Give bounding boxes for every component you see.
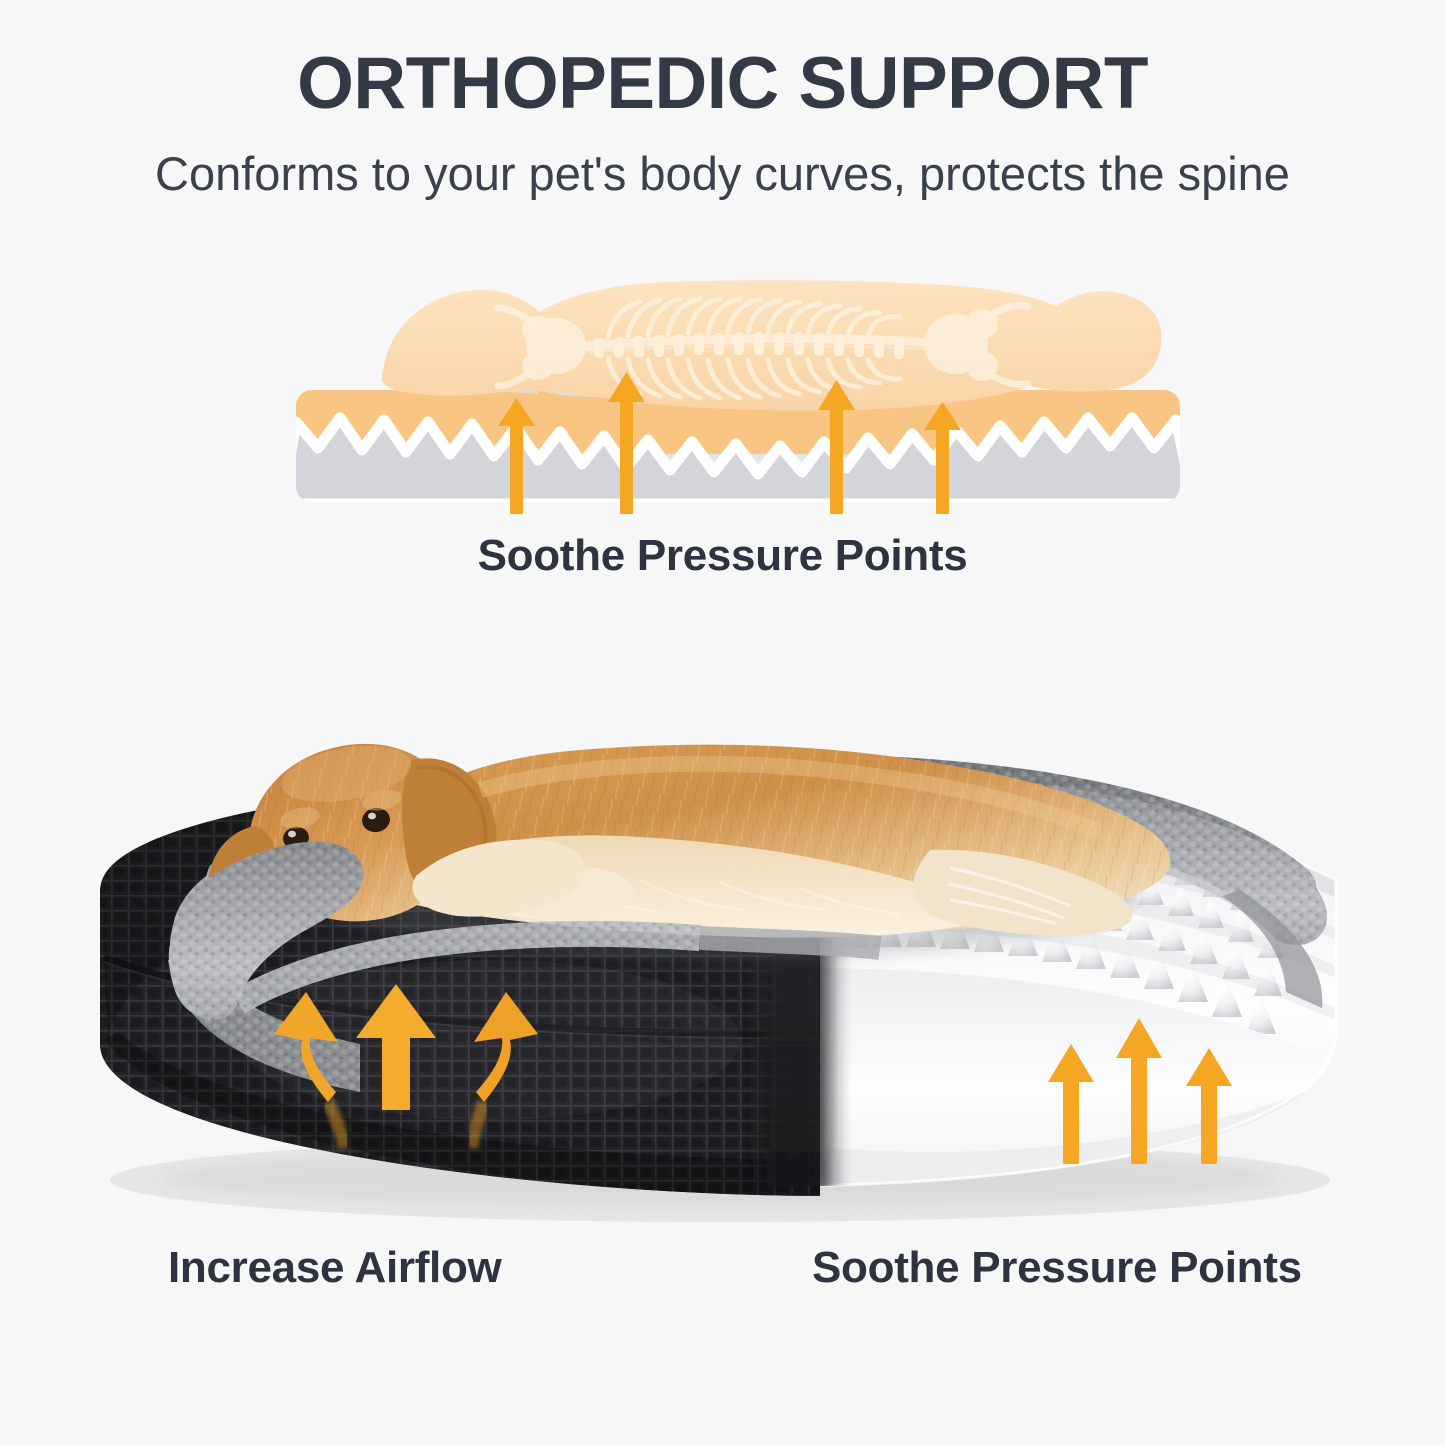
marketing-infographic: ORTHOPEDIC SUPPORT Conforms to your pet'…: [0, 0, 1445, 1445]
dog-bed-cutaway-photo: [60, 640, 1390, 1250]
top-diagram-caption: Soothe Pressure Points: [0, 531, 1445, 581]
pressure-caption: Soothe Pressure Points: [812, 1243, 1302, 1293]
page-title: ORTHOPEDIC SUPPORT: [0, 46, 1445, 123]
airflow-caption: Increase Airflow: [168, 1243, 501, 1293]
golden-retriever-dog: [208, 737, 1170, 938]
pressure-relief-cross-section: [288, 272, 1188, 522]
page-subtitle: Conforms to your pet's body curves, prot…: [0, 146, 1445, 202]
